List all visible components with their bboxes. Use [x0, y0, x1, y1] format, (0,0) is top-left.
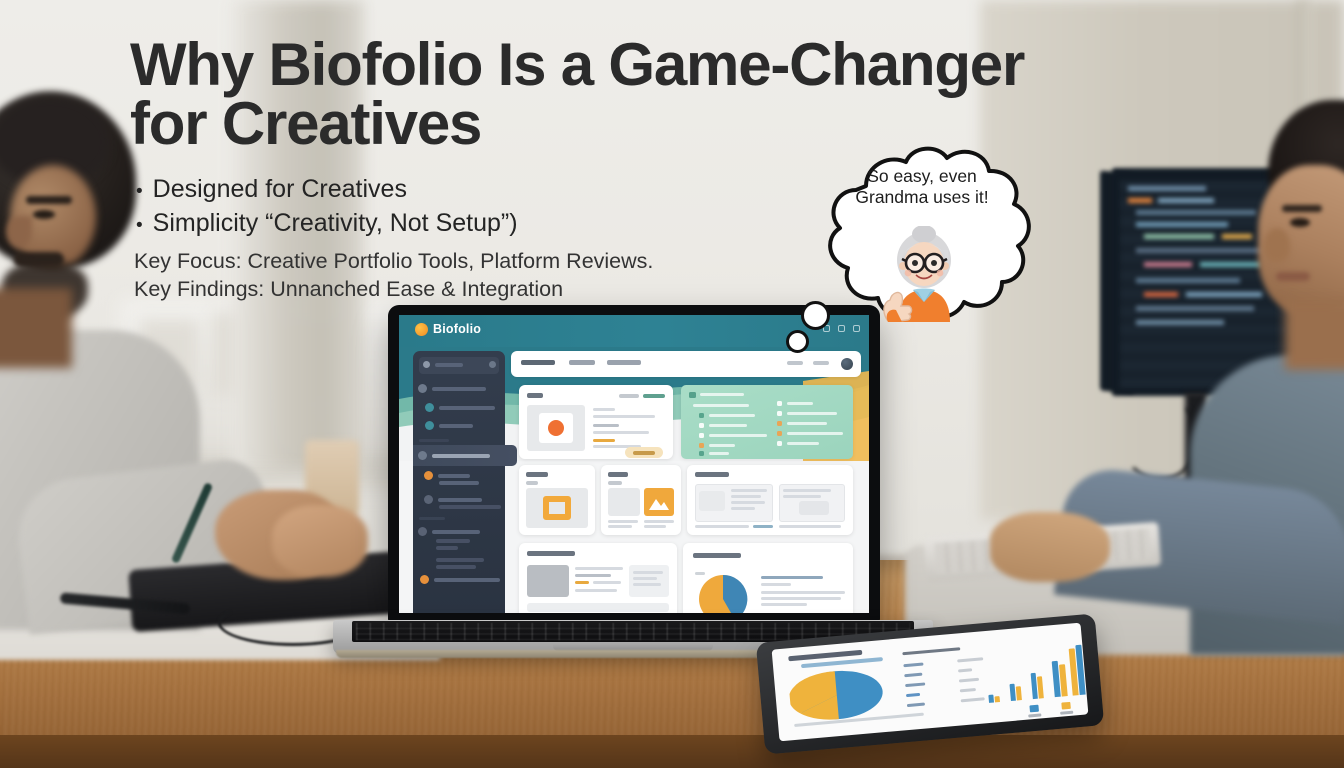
- left-person-hand-second: [272, 505, 368, 577]
- legend-heading: [761, 576, 823, 579]
- legend-swatch-blue: [1029, 705, 1039, 713]
- sidebar-item-label: [432, 387, 486, 391]
- topbar-action[interactable]: [787, 361, 803, 365]
- doc-footer-link[interactable]: [753, 525, 773, 528]
- pie-label: [695, 572, 705, 575]
- checklist-item: [709, 414, 755, 417]
- caption-line: [608, 525, 632, 528]
- hero-text-line: [593, 415, 655, 418]
- doc-line: [731, 495, 761, 498]
- bullet-marker-icon: •: [136, 216, 143, 235]
- bar-yellow: [995, 696, 1001, 702]
- code-keyword: [1128, 198, 1152, 203]
- card-badge: [643, 394, 665, 398]
- code-line: [1158, 198, 1214, 203]
- sidebar-item-templates[interactable]: [425, 421, 473, 430]
- tab-recent-activity[interactable]: [607, 360, 641, 365]
- right-person-nose: [1264, 228, 1290, 262]
- card-reviews[interactable]: [519, 543, 677, 613]
- tablet-table-value: [958, 668, 972, 673]
- review-line: [633, 577, 657, 580]
- monitor-cable: [1120, 395, 1200, 481]
- review-divider: [527, 603, 669, 612]
- tablet-panel-title: [902, 647, 960, 655]
- doc-thumb: [799, 501, 829, 515]
- doc-line: [783, 495, 821, 498]
- caption-line: [608, 520, 638, 523]
- checklist-item: [709, 434, 767, 437]
- legend-line: [761, 603, 807, 606]
- sidebar-subitem[interactable]: [436, 539, 470, 543]
- sidebar-item-label: [432, 454, 490, 458]
- filter-icon[interactable]: [489, 361, 496, 368]
- right-person-hand: [990, 512, 1110, 582]
- biofolio-app: Biofolio: [399, 315, 869, 613]
- card-integrations-overview[interactable]: [683, 543, 853, 613]
- thought-bubble: So easy, even Grandma uses it!: [806, 140, 1038, 338]
- integrations-icon: [418, 527, 427, 536]
- checklist-item: [787, 412, 837, 415]
- doc-footer-line: [779, 525, 841, 528]
- sidebar-item-label: [432, 530, 480, 534]
- thought-line-2: Grandma uses it!: [806, 187, 1038, 208]
- card-features[interactable]: [519, 465, 595, 535]
- checklist-item: [709, 424, 747, 427]
- app-topbar: [511, 351, 861, 377]
- check-icon: [699, 443, 704, 448]
- portfolio-icon: [425, 403, 434, 412]
- sidebar-subitem[interactable]: [436, 558, 484, 562]
- app-logo[interactable]: Biofolio: [415, 322, 481, 336]
- doc-line: [731, 489, 767, 492]
- sidebar-item-integrations[interactable]: [418, 527, 480, 536]
- sidebar-item-client-gallery[interactable]: [418, 451, 490, 460]
- tablet-table-label: [907, 703, 925, 708]
- orange-dot-icon: [548, 420, 564, 436]
- caption-line: [644, 520, 674, 523]
- check-icon: [777, 441, 782, 446]
- templates-icon: [425, 421, 434, 430]
- checklist-item: [709, 444, 735, 447]
- card-subtitle: [608, 481, 622, 485]
- key-focus-text: Key Focus: Creative Portfolio Tools, Pla…: [134, 248, 653, 276]
- review-line: [575, 589, 617, 592]
- card-documentation[interactable]: [687, 465, 853, 535]
- tablet-table-value: [961, 697, 985, 702]
- card-onboarding-checklist[interactable]: [681, 385, 853, 459]
- list-item: • Designed for Creatives: [136, 172, 518, 206]
- orange-frame-icon: [543, 496, 571, 520]
- check-icon: [777, 401, 782, 406]
- caption-line: [644, 525, 666, 528]
- team-icon: [420, 575, 429, 584]
- review-line: [575, 574, 611, 577]
- check-icon: [699, 451, 704, 456]
- doc-line: [731, 501, 765, 504]
- card-title: [527, 393, 543, 398]
- bar-blue: [988, 695, 994, 703]
- key-findings-text: Key Findings: Unnanched Ease & Integrati…: [134, 276, 653, 304]
- left-person-neck: [0, 288, 72, 368]
- card-title: [693, 553, 741, 558]
- sidebar-item-label: [434, 578, 500, 582]
- checklist-title: [700, 393, 744, 396]
- code-line: [1136, 306, 1254, 311]
- card-title: [695, 472, 729, 477]
- check-icon: [699, 413, 704, 418]
- hero-text-line: [593, 431, 649, 434]
- laptop-screen: Biofolio: [399, 315, 869, 613]
- checklist-item: [787, 402, 813, 405]
- right-person-eye: [1290, 218, 1310, 227]
- check-icon: [699, 433, 704, 438]
- code-line: [1144, 234, 1214, 239]
- card-hero-preview[interactable]: [519, 385, 673, 459]
- topbar-action[interactable]: [813, 361, 829, 365]
- review-thumbnail: [527, 565, 569, 597]
- card-title: [527, 551, 575, 556]
- card-subtitle: [526, 481, 538, 485]
- sidebar-item-assets[interactable]: [424, 495, 482, 504]
- desk-front-edge: [0, 735, 1344, 768]
- check-icon: [777, 431, 782, 436]
- page-title: Why Biofolio Is a Game-Changer for Creat…: [130, 36, 1030, 154]
- sidebar-item-collaborator[interactable]: [424, 471, 470, 480]
- right-person-brow: [1282, 205, 1322, 212]
- hero-subhead: [593, 424, 619, 427]
- sidebar-search-label: [435, 363, 463, 367]
- app-main-content: [511, 351, 861, 613]
- pie-chart: [695, 571, 751, 613]
- checklist-subhead: [693, 404, 749, 407]
- bar-yellow: [1016, 686, 1022, 700]
- sidebar-section-label: [419, 517, 445, 520]
- review-line: [633, 583, 661, 586]
- code-line: [1128, 186, 1206, 191]
- sidebar-subitem[interactable]: [436, 546, 458, 550]
- review-line: [575, 567, 623, 570]
- checklist-item: [709, 452, 729, 455]
- checklist-item: [787, 432, 843, 435]
- sidebar-subitem[interactable]: [436, 565, 476, 569]
- sidebar-item-sublabel: [439, 505, 501, 509]
- code-keyword: [1144, 292, 1178, 297]
- legend-line: [761, 597, 841, 600]
- tablet-pie-chart: [788, 666, 886, 724]
- left-person-nose: [6, 216, 32, 248]
- sidebar-item-my-portfolio[interactable]: [425, 403, 495, 412]
- sidebar-item-projects[interactable]: [418, 384, 486, 393]
- thought-bubble-text: So easy, even Grandma uses it!: [806, 166, 1038, 209]
- left-person-eye: [33, 210, 55, 219]
- bullet-marker-icon: •: [136, 182, 143, 201]
- card-showcase[interactable]: [601, 465, 681, 535]
- sidebar-item-team-settings[interactable]: [420, 575, 500, 584]
- card-title: [608, 472, 628, 477]
- code-line: [1136, 320, 1224, 325]
- code-line: [1136, 222, 1228, 227]
- card-title: [526, 472, 548, 477]
- app-logo-text: Biofolio: [433, 322, 481, 336]
- assets-icon: [424, 495, 433, 504]
- bullet-text: Designed for Creatives: [153, 172, 407, 206]
- code-line: [1186, 292, 1262, 297]
- tablet-table-value: [957, 657, 983, 663]
- checklist-item: [787, 422, 827, 425]
- cta-label: [633, 451, 655, 455]
- slide-canvas: Biofolio: [0, 0, 1344, 768]
- doc-line: [731, 507, 755, 510]
- review-line: [633, 571, 663, 574]
- sidebar-item-label: [439, 406, 495, 410]
- legend-sub: [761, 583, 791, 586]
- thought-line-1: So easy, even: [806, 166, 1038, 187]
- sidebar-item-label: [439, 424, 473, 428]
- code-line: [1136, 210, 1256, 215]
- review-line: [593, 581, 621, 584]
- checklist-item: [787, 442, 819, 445]
- user-avatar[interactable]: [841, 358, 853, 370]
- tablet-table-value: [959, 678, 979, 683]
- code-line: [1136, 248, 1276, 253]
- key-summary: Key Focus: Creative Portfolio Tools, Pla…: [134, 248, 653, 304]
- check-icon: [777, 421, 782, 426]
- hero-label: [593, 408, 615, 411]
- bullet-list: • Designed for Creatives • Simplicity “C…: [136, 172, 518, 240]
- legend-label-blue: [1028, 713, 1041, 717]
- list-item: • Simplicity “Creativity, Not Setup”): [136, 206, 518, 240]
- check-icon: [699, 423, 704, 428]
- tablet-table-label: [904, 673, 922, 678]
- bar-yellow: [1037, 676, 1044, 698]
- sidebar-item-label: [438, 474, 470, 478]
- projects-icon: [418, 384, 427, 393]
- mountain-icon: [649, 497, 669, 510]
- card-meta: [619, 394, 639, 398]
- code-string: [1222, 234, 1252, 239]
- doc-line: [783, 489, 831, 492]
- hero-highlight: [593, 439, 615, 442]
- left-person-brow: [26, 196, 72, 204]
- tablet-table-label: [906, 693, 920, 698]
- sidebar-item-label: [438, 498, 482, 502]
- tablet-table-value: [960, 688, 976, 693]
- gallery-icon: [418, 451, 427, 460]
- code-line: [1136, 278, 1240, 283]
- check-icon: [777, 411, 782, 416]
- legend-swatch-yellow: [1061, 702, 1071, 710]
- grandma-illustration: [872, 226, 976, 322]
- avatar-icon: [424, 471, 433, 480]
- code-line: [1200, 262, 1262, 267]
- right-person-lips: [1276, 272, 1310, 281]
- tab-dashboard[interactable]: [521, 360, 555, 365]
- legend-label-yellow: [1060, 711, 1073, 715]
- right-person-neck: [1285, 300, 1344, 370]
- tab-overview[interactable]: [569, 360, 595, 365]
- bullet-text: Simplicity “Creativity, Not Setup”): [153, 206, 518, 240]
- checklist-icon: [689, 392, 696, 398]
- search-icon: [423, 361, 430, 368]
- biofolio-logo-icon: [415, 323, 428, 336]
- review-side-panel: [629, 565, 669, 597]
- sidebar-section-label: [419, 439, 449, 442]
- legend-line: [761, 591, 845, 594]
- review-badge: [575, 581, 589, 584]
- doc-footer-line: [695, 525, 749, 528]
- doc-thumb: [699, 491, 725, 511]
- sidebar-item-sublabel: [439, 481, 479, 485]
- tablet-table-label: [905, 682, 925, 687]
- showcase-thumb: [608, 488, 640, 516]
- tablet-table-label: [903, 663, 923, 668]
- code-line: [1144, 262, 1192, 267]
